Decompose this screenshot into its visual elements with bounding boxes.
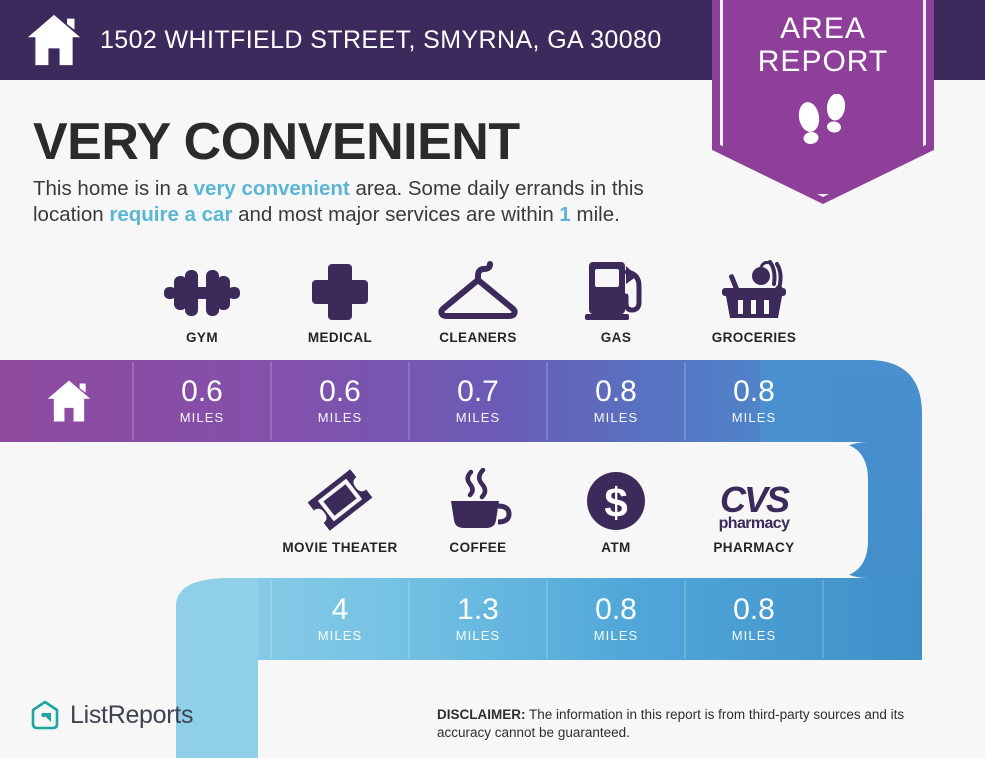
icon-label-groceries: GROCERIES: [712, 330, 797, 345]
value-atm: 0.8: [595, 595, 637, 625]
unit-cleaners: MILES: [456, 410, 501, 425]
unit-medical: MILES: [318, 410, 363, 425]
row1-value-strip: 0.6 MILES 0.6 MILES 0.7 MILES 0.8 MILES …: [0, 360, 985, 442]
icon-cell-gym: GYM: [133, 258, 271, 345]
page-title: VERY CONVENIENT: [33, 112, 520, 172]
unit-coffee: MILES: [456, 628, 501, 643]
icon-cell-gas: GAS: [547, 258, 685, 345]
value-cell-gym: 0.6 MILES: [133, 360, 271, 442]
row2-value-strip: 4 MILES 1.3 MILES 0.8 MILES 0.8 MILES: [0, 578, 985, 660]
icon-cell-cleaners: CLEANERS: [409, 258, 547, 345]
value-cell-home: [0, 360, 138, 442]
gas-pump-icon: [585, 258, 647, 322]
value-cell-movie-theater: 4 MILES: [271, 578, 409, 660]
icon-cell-atm: $ ATM: [547, 468, 685, 555]
icon-label-movie-theater: MOVIE THEATER: [282, 540, 397, 555]
value-cell-groceries: 0.8 MILES: [685, 360, 823, 442]
subtitle-highlight-1: very convenient: [194, 177, 350, 200]
value-medical: 0.6: [319, 377, 361, 407]
value-coffee: 1.3: [457, 595, 499, 625]
dumbbell-icon: [160, 264, 244, 322]
subtitle-highlight-3: 1: [559, 203, 570, 226]
icon-label-gym: GYM: [186, 330, 218, 345]
dollar-circle-icon: $: [585, 470, 647, 532]
subtitle-part-1: This home is in a: [33, 177, 194, 200]
value-cleaners: 0.7: [457, 377, 499, 407]
unit-gym: MILES: [180, 410, 225, 425]
value-groceries: 0.8: [733, 377, 775, 407]
subtitle-part-3: and most major services are within: [232, 203, 559, 226]
listreports-logo[interactable]: ListReports: [30, 700, 193, 730]
value-pharmacy: 0.8: [733, 595, 775, 625]
subtitle-part-4: mile.: [571, 203, 620, 226]
listreports-logo-icon: [30, 700, 60, 730]
basket-icon: [714, 258, 794, 322]
unit-atm: MILES: [594, 628, 639, 643]
value-gas: 0.8: [595, 377, 637, 407]
icon-label-medical: MEDICAL: [308, 330, 372, 345]
property-address: 1502 WHITFIELD STREET, SMYRNA, GA 30080: [100, 26, 662, 55]
row1-icon-strip: GYM MEDICAL CLEANERS: [0, 258, 985, 356]
value-cell-gas: 0.8 MILES: [547, 360, 685, 442]
value-cell-pharmacy: 0.8 MILES: [685, 578, 823, 660]
page-subtitle: This home is in a very convenient area. …: [33, 176, 708, 228]
badge-title: AREA REPORT: [712, 12, 934, 78]
icon-cell-movie-theater: MOVIE THEATER: [271, 468, 409, 555]
home-icon: [26, 13, 82, 67]
coffee-cup-icon: [443, 468, 513, 532]
area-report-badge: AREA REPORT: [712, 0, 934, 204]
icon-cell-medical: MEDICAL: [271, 258, 409, 345]
area-report-infographic: 1502 WHITFIELD STREET, SMYRNA, GA 30080 …: [0, 0, 985, 758]
icon-cell-coffee: COFFEE: [409, 468, 547, 555]
hanger-icon: [438, 260, 518, 322]
unit-pharmacy: MILES: [732, 628, 777, 643]
cross-icon: [310, 262, 370, 322]
unit-gas: MILES: [594, 410, 639, 425]
subtitle-highlight-2: require a car: [109, 203, 232, 226]
icon-label-cleaners: CLEANERS: [439, 330, 516, 345]
value-cell-coffee: 1.3 MILES: [409, 578, 547, 660]
svg-text:$: $: [604, 479, 627, 526]
unit-movie-theater: MILES: [318, 628, 363, 643]
value-gym: 0.6: [181, 377, 223, 407]
badge-title-line2: REPORT: [712, 45, 934, 78]
cvs-wordmark: CVS: [719, 482, 790, 518]
cvs-pharmacy-text: pharmacy: [719, 516, 790, 532]
icon-cell-pharmacy: CVS pharmacy PHARMACY: [685, 468, 823, 555]
unit-groceries: MILES: [732, 410, 777, 425]
icon-label-gas: GAS: [601, 330, 631, 345]
icon-cell-groceries: GROCERIES: [685, 258, 823, 345]
value-cell-medical: 0.6 MILES: [271, 360, 409, 442]
row2-icon-strip: MOVIE THEATER COFFEE $ ATM: [0, 468, 985, 574]
ticket-icon: [305, 468, 375, 532]
disclaimer: DISCLAIMER: The information in this repo…: [437, 706, 957, 742]
value-movie-theater: 4: [332, 595, 349, 625]
listreports-logo-text: ListReports: [70, 701, 193, 730]
icon-label-coffee: COFFEE: [449, 540, 506, 555]
icon-label-atm: ATM: [601, 540, 630, 555]
cvs-pharmacy-logo: CVS pharmacy: [719, 482, 790, 532]
disclaimer-label: DISCLAIMER:: [437, 707, 526, 722]
value-cell-atm: 0.8 MILES: [547, 578, 685, 660]
badge-title-line1: AREA: [712, 12, 934, 45]
home-icon: [45, 379, 93, 423]
footprints-icon: [792, 94, 854, 152]
value-cell-cleaners: 0.7 MILES: [409, 360, 547, 442]
icon-label-pharmacy: PHARMACY: [713, 540, 794, 555]
